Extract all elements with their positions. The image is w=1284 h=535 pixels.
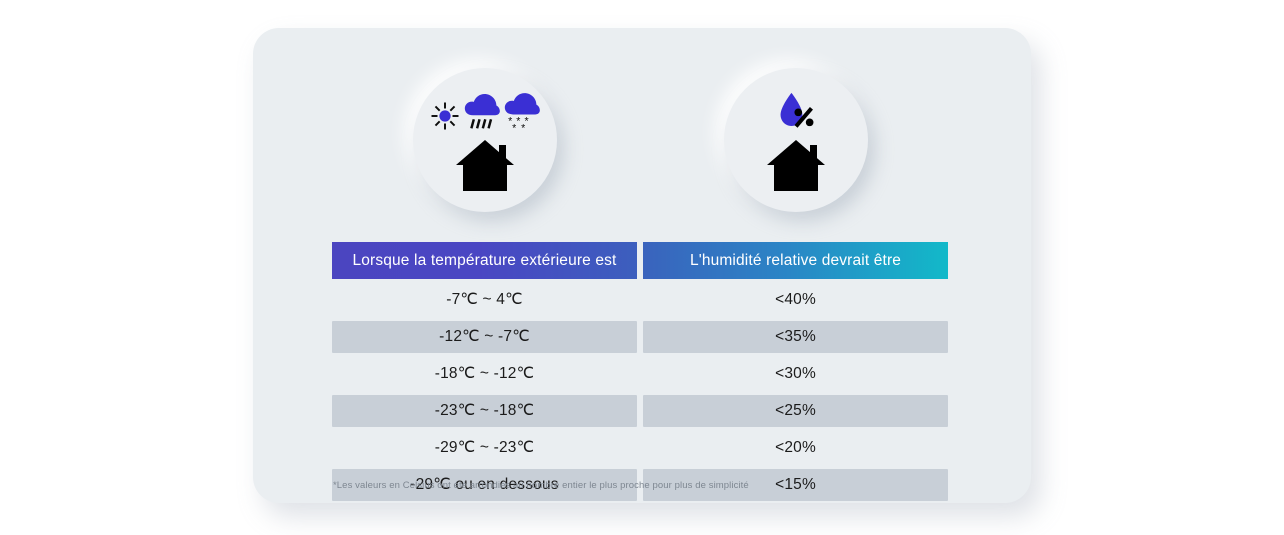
cell-humidity: <40%	[643, 284, 948, 316]
svg-text:*: *	[516, 115, 520, 127]
cell-humidity: <30%	[643, 358, 948, 390]
humidity-icon-row	[776, 94, 816, 136]
table-row: -7℃ ~ 4℃ <40%	[332, 284, 948, 316]
cell-humidity: <20%	[643, 432, 948, 464]
column-header-temperature: Lorsque la température extérieure est	[332, 242, 637, 279]
footnote: *Les valeurs en Celsius ont été arrondie…	[333, 480, 749, 491]
table-row: -29℃ ~ -23℃ <20%	[332, 432, 948, 464]
snow-cloud-icon: * * * * *	[504, 93, 540, 136]
water-drop-percent-icon	[776, 91, 816, 136]
cell-temperature: -12℃ ~ -7℃	[332, 321, 637, 353]
column-header-humidity: L'humidité relative devrait être	[643, 242, 948, 279]
house-icon	[454, 138, 516, 197]
cell-humidity: <35%	[643, 321, 948, 353]
cell-temperature: -23℃ ~ -18℃	[332, 395, 637, 427]
humidity-badge	[724, 68, 868, 212]
sun-icon	[430, 101, 460, 136]
table-row: -12℃ ~ -7℃ <35%	[332, 321, 948, 353]
weather-badge: * * * * *	[413, 68, 557, 212]
table-header-row: Lorsque la température extérieure est L'…	[332, 242, 948, 279]
table-row: -18℃ ~ -12℃ <30%	[332, 358, 948, 390]
weather-icon-row: * * * * *	[430, 94, 540, 136]
rain-cloud-icon	[464, 93, 500, 136]
cell-temperature: -29℃ ~ -23℃	[332, 432, 637, 464]
cell-temperature: -7℃ ~ 4℃	[332, 284, 637, 316]
house-icon-wrap	[454, 138, 516, 197]
house-icon	[765, 138, 827, 197]
house-icon-wrap	[765, 138, 827, 197]
svg-text:*: *	[521, 123, 525, 131]
svg-text:*: *	[512, 123, 516, 131]
table-row: -23℃ ~ -18℃ <25%	[332, 395, 948, 427]
conditions-table: Lorsque la température extérieure est L'…	[332, 242, 948, 506]
cell-humidity: <25%	[643, 395, 948, 427]
cell-temperature: -18℃ ~ -12℃	[332, 358, 637, 390]
